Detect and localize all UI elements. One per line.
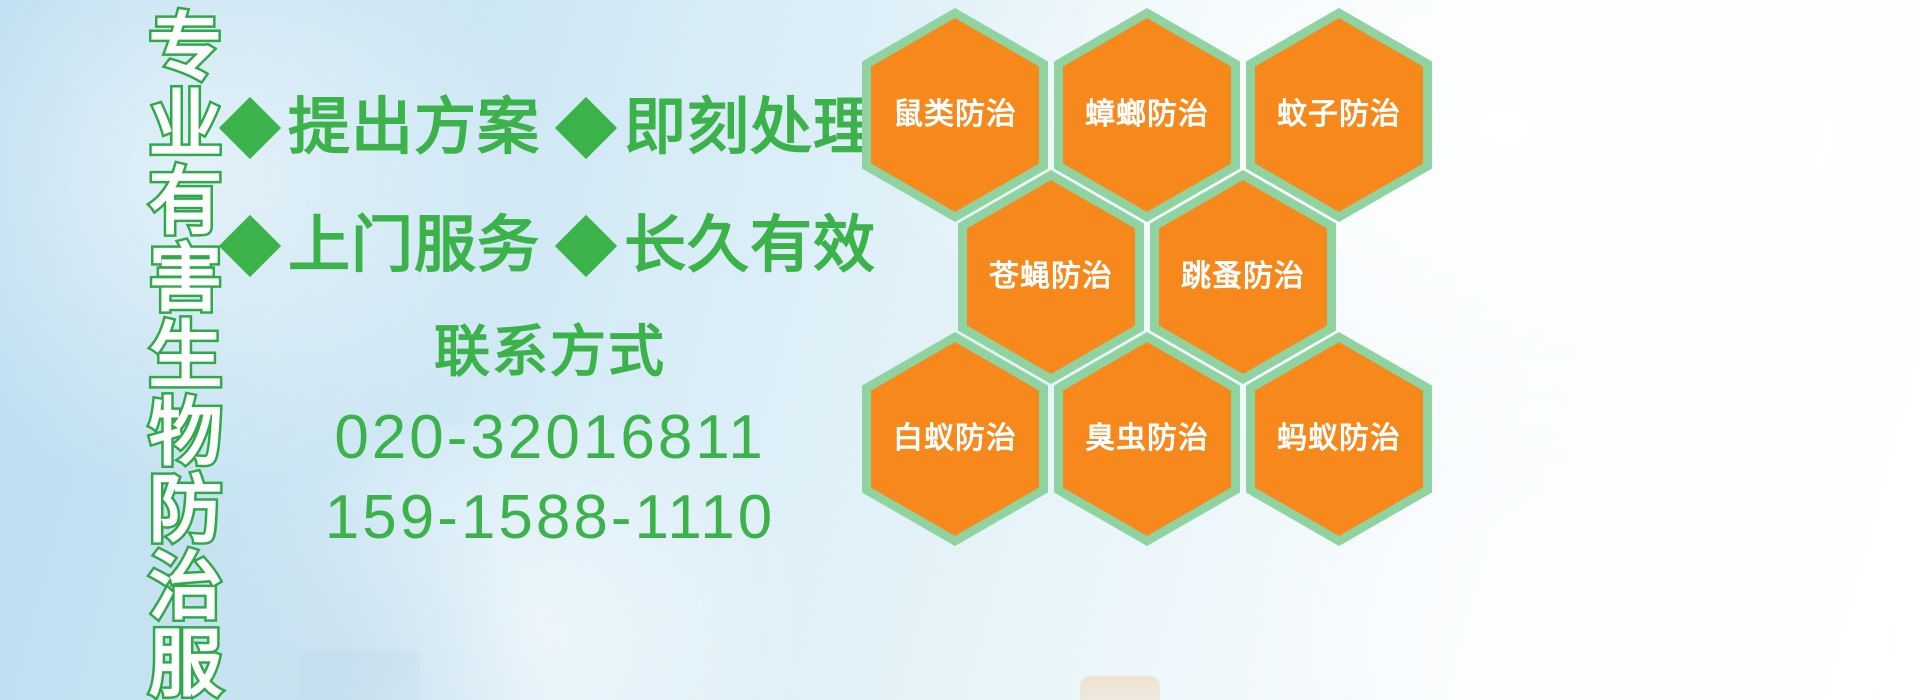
service-label: 蚂蚁防治 <box>1277 424 1401 454</box>
service-honeycomb: 鼠类防治 蟑螂防治 蚊子防治 苍蝇防治 跳蚤防治 白蚁防 <box>862 0 1462 560</box>
diamond-bullet-icon <box>219 97 281 159</box>
feature-label: 上门服务 <box>288 215 540 277</box>
service-label: 跳蚤防治 <box>1181 262 1305 292</box>
hex-inner-fill: 臭虫防治 <box>1063 342 1231 536</box>
background-ghost-shape-left <box>300 650 420 700</box>
feature-item: 上门服务 <box>228 215 540 277</box>
vertical-headline: 专业有害生物防治服务 <box>108 8 216 698</box>
hex-inner-fill: 鼠类防治 <box>871 18 1039 212</box>
hex-inner-fill: 蚊子防治 <box>1255 18 1423 212</box>
feature-label: 提出方案 <box>288 97 540 159</box>
background-ghost-shape-right <box>1080 676 1160 700</box>
diamond-bullet-icon <box>555 215 617 277</box>
service-label: 白蚁防治 <box>893 424 1017 454</box>
feature-row: 上门服务 长久有效 <box>228 196 868 296</box>
service-label: 臭虫防治 <box>1085 424 1209 454</box>
feature-label: 即刻处理 <box>624 97 876 159</box>
feature-item: 即刻处理 <box>564 97 876 159</box>
service-label: 鼠类防治 <box>893 100 1017 130</box>
phone-number-landline[interactable]: 020-32016811 <box>240 398 860 477</box>
hex-inner-fill: 白蚁防治 <box>871 342 1039 536</box>
service-label: 苍蝇防治 <box>989 262 1113 292</box>
pest-control-banner: 专业有害生物防治服务 提出方案 即刻处理 上门服务 长久有效 联 <box>0 0 1920 700</box>
feature-row: 提出方案 即刻处理 <box>228 78 868 178</box>
service-label: 蟑螂防治 <box>1085 100 1209 130</box>
diamond-bullet-icon <box>555 97 617 159</box>
feature-label: 长久有效 <box>624 215 876 277</box>
contact-block: 联系方式 020-32016811 159-1588-1110 <box>240 320 860 557</box>
diamond-bullet-icon <box>219 215 281 277</box>
hex-inner-fill: 苍蝇防治 <box>967 180 1135 374</box>
hex-inner-fill: 蚂蚁防治 <box>1255 342 1423 536</box>
feature-item: 提出方案 <box>228 97 540 159</box>
service-label: 蚊子防治 <box>1277 100 1401 130</box>
hex-inner-fill: 蟑螂防治 <box>1063 18 1231 212</box>
hex-inner-fill: 跳蚤防治 <box>1159 180 1327 374</box>
feature-list: 提出方案 即刻处理 上门服务 长久有效 <box>228 78 868 314</box>
contact-title: 联系方式 <box>240 320 860 384</box>
phone-number-mobile[interactable]: 159-1588-1110 <box>240 478 860 557</box>
feature-item: 长久有效 <box>564 215 876 277</box>
